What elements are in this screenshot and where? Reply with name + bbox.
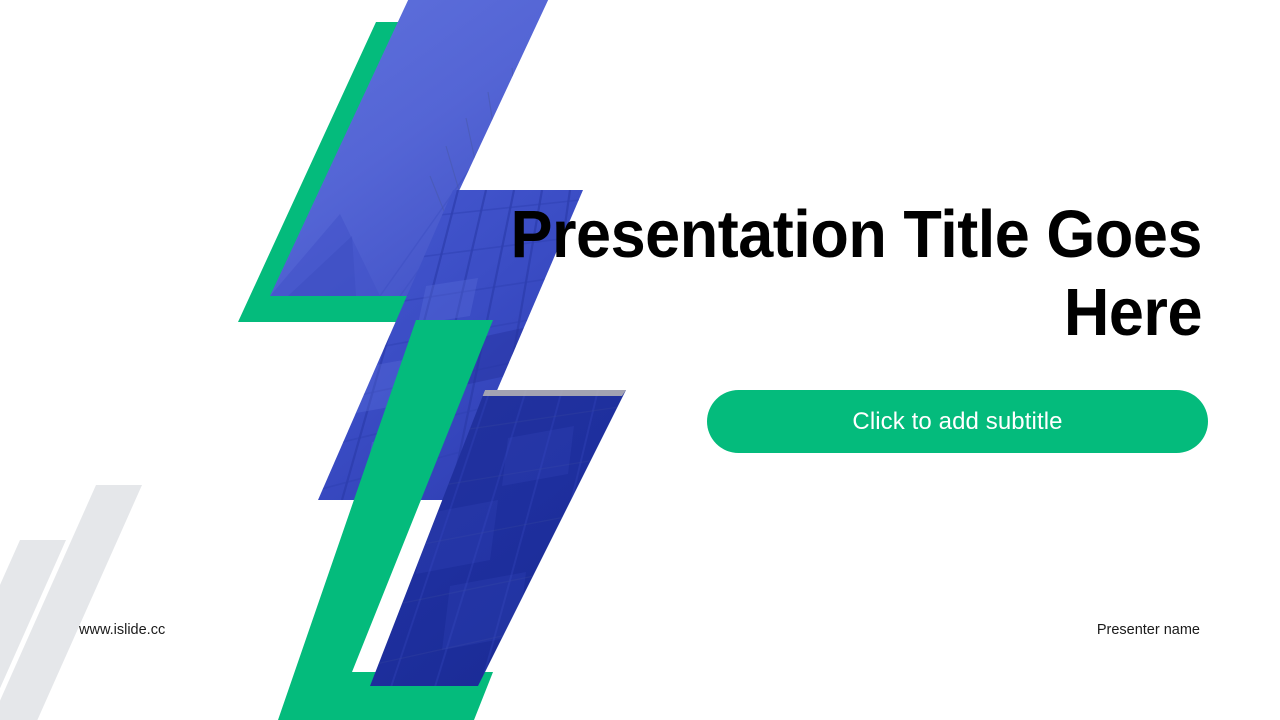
slide-title-block[interactable]: Presentation Title Goes Here <box>430 196 1202 353</box>
subtitle-placeholder-label: Click to add subtitle <box>852 410 1062 434</box>
page-title[interactable]: Presentation Title Goes Here <box>476 196 1202 353</box>
presentation-slide: Presentation Title Goes Here Click to ad… <box>0 0 1280 720</box>
skyscraper-photo-icon <box>330 390 630 690</box>
subtitle-placeholder-button[interactable]: Click to add subtitle <box>707 390 1208 453</box>
footer-presenter-label: Presenter name <box>1097 623 1200 638</box>
architecture-photo-panel-lower <box>330 390 630 690</box>
footer-website-label: www.islide.cc <box>79 623 165 638</box>
